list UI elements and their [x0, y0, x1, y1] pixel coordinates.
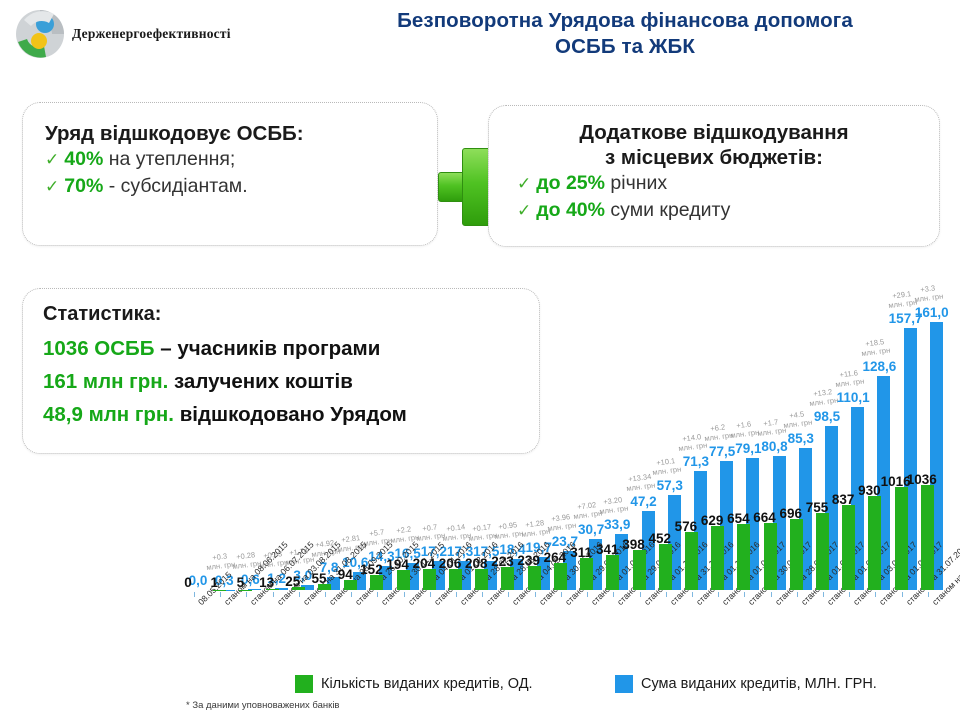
bar-green-count	[606, 555, 619, 590]
box-left-item-1-text: - субсидіантам.	[103, 175, 247, 197]
legend-label: Сума виданих кредитів, МЛН. ГРН.	[641, 676, 877, 692]
axis-tick	[535, 592, 536, 597]
box-left-item-0: ✓40% на утеплення;	[45, 146, 437, 173]
logo-swoosh-icon	[14, 8, 66, 60]
check-icon: ✓	[517, 201, 531, 220]
organization-logo: Держенергоефективності	[14, 8, 231, 60]
bar-green-count	[239, 590, 252, 591]
axis-tick	[482, 592, 483, 597]
bar-green-count	[895, 487, 908, 590]
axis-tick	[718, 592, 719, 597]
bar-value-label-blue: 128,6	[859, 359, 899, 374]
bar-green-count	[685, 532, 698, 590]
axis-tick	[613, 592, 614, 597]
box-right-item-1-value: до 40%	[536, 199, 605, 221]
axis-tick	[194, 592, 195, 597]
bar-green-count	[921, 485, 934, 590]
box-left-item-0-text: на утеплення;	[103, 148, 235, 170]
box-right-item-1-text: суми кредиту	[605, 199, 730, 221]
axis-tick	[299, 592, 300, 597]
bar-green-count	[475, 569, 488, 590]
axis-tick	[902, 592, 903, 597]
bar-green-count	[423, 569, 436, 590]
bar-green-count	[633, 550, 646, 590]
chart-footnote: * За даними уповноважених банків	[186, 700, 339, 711]
bar-value-label-blue: 47,2	[624, 494, 664, 509]
box-left-title: Уряд відшкодовує ОСББ:	[45, 121, 437, 146]
bar-green-count	[528, 566, 541, 590]
axis-tick	[797, 592, 798, 597]
government-reimbursement-box: Уряд відшкодовує ОСББ: ✓40% на утеплення…	[22, 102, 438, 246]
bar-green-count	[790, 519, 803, 590]
axis-tick	[928, 592, 929, 597]
box-right-title-line1: Додаткове відшкодування	[489, 120, 939, 145]
bar-green-count	[370, 575, 383, 590]
bar-value-label-blue: 161,0	[912, 305, 952, 320]
axis-tick	[351, 592, 352, 597]
axis-tick	[325, 592, 326, 597]
bar-value-label-blue: 85,3	[781, 431, 821, 446]
bar-green-count	[292, 587, 305, 590]
page-title-line2: ОСББ та ЖБК	[300, 34, 950, 60]
bar-delta-label: +18.5млн. грн	[860, 338, 891, 358]
page-title: Безповоротна Урядова фінансова допомога …	[300, 8, 950, 60]
bar-green-count	[501, 567, 514, 590]
page-title-line1: Безповоротна Урядова фінансова допомога	[300, 8, 950, 34]
bar-delta-label: +3.3млн. грн	[913, 284, 944, 304]
chart-x-axis: 08.05.2015станом на 08.06.2015станом на …	[186, 592, 946, 596]
bar-green-count	[266, 589, 279, 590]
bar-value-label-blue: 33,9	[597, 517, 637, 532]
bar-green-count	[842, 505, 855, 590]
axis-tick	[561, 592, 562, 597]
bar-green-count	[318, 584, 331, 590]
axis-tick	[220, 592, 221, 597]
axis-tick	[246, 592, 247, 597]
logo-text: Держенергоефективності	[72, 26, 231, 42]
axis-tick	[377, 592, 378, 597]
bar-green-count	[764, 523, 777, 590]
bar-value-label-blue: 98,5	[807, 409, 847, 424]
box-right-item-0-value: до 25%	[536, 172, 605, 194]
check-icon: ✓	[517, 174, 531, 193]
box-left-item-1-value: 70%	[64, 175, 103, 197]
box-right-title-line2: з місцевих бюджетів:	[489, 145, 939, 170]
axis-tick	[456, 592, 457, 597]
bar-green-count	[397, 570, 410, 590]
credits-chart: 0,000,31+0.3млн. грн0,65+0.28млн. грн1,2…	[0, 280, 960, 720]
bar-green-count	[868, 496, 881, 590]
check-icon: ✓	[45, 177, 59, 196]
bar-green-count	[449, 569, 462, 590]
axis-tick	[744, 592, 745, 597]
bar-value-label-blue: 57,3	[650, 478, 690, 493]
axis-tick	[875, 592, 876, 597]
box-left-item-0-value: 40%	[64, 148, 103, 170]
chart-legend: Кількість виданих кредитів, ОД.Сума вида…	[0, 675, 960, 699]
axis-tick	[692, 592, 693, 597]
check-icon: ✓	[45, 150, 59, 169]
box-right-item-0-text: річних	[605, 172, 667, 194]
axis-tick	[404, 592, 405, 597]
legend-item: Кількість виданих кредитів, ОД.	[295, 675, 533, 693]
local-budget-reimbursement-box: Додаткове відшкодування з місцевих бюдже…	[488, 105, 940, 247]
legend-swatch	[615, 675, 633, 693]
bar-green-count	[580, 558, 593, 590]
legend-swatch	[295, 675, 313, 693]
box-right-item-0: ✓до 25% річних	[489, 170, 939, 197]
bar-green-count	[344, 580, 357, 590]
bar-green-count	[737, 524, 750, 590]
bar-value-label-blue: 110,1	[833, 390, 873, 405]
axis-tick	[508, 592, 509, 597]
box-right-item-1: ✓до 40% суми кредиту	[489, 197, 939, 224]
page-header: Держенергоефективності Безповоротна Уряд…	[0, 0, 960, 72]
bar-green-count	[816, 513, 829, 590]
axis-tick	[640, 592, 641, 597]
bar-green-count	[659, 544, 672, 590]
axis-tick	[430, 592, 431, 597]
axis-tick	[666, 592, 667, 597]
bar-green-count	[711, 526, 724, 590]
bar-green-count	[554, 563, 567, 590]
legend-label: Кількість виданих кредитів, ОД.	[321, 676, 533, 692]
axis-tick	[823, 592, 824, 597]
axis-tick	[849, 592, 850, 597]
box-left-item-1: ✓70% - субсидіантам.	[45, 173, 437, 200]
axis-tick	[771, 592, 772, 597]
legend-item: Сума виданих кредитів, МЛН. ГРН.	[615, 675, 877, 693]
axis-tick	[587, 592, 588, 597]
axis-tick	[273, 592, 274, 597]
